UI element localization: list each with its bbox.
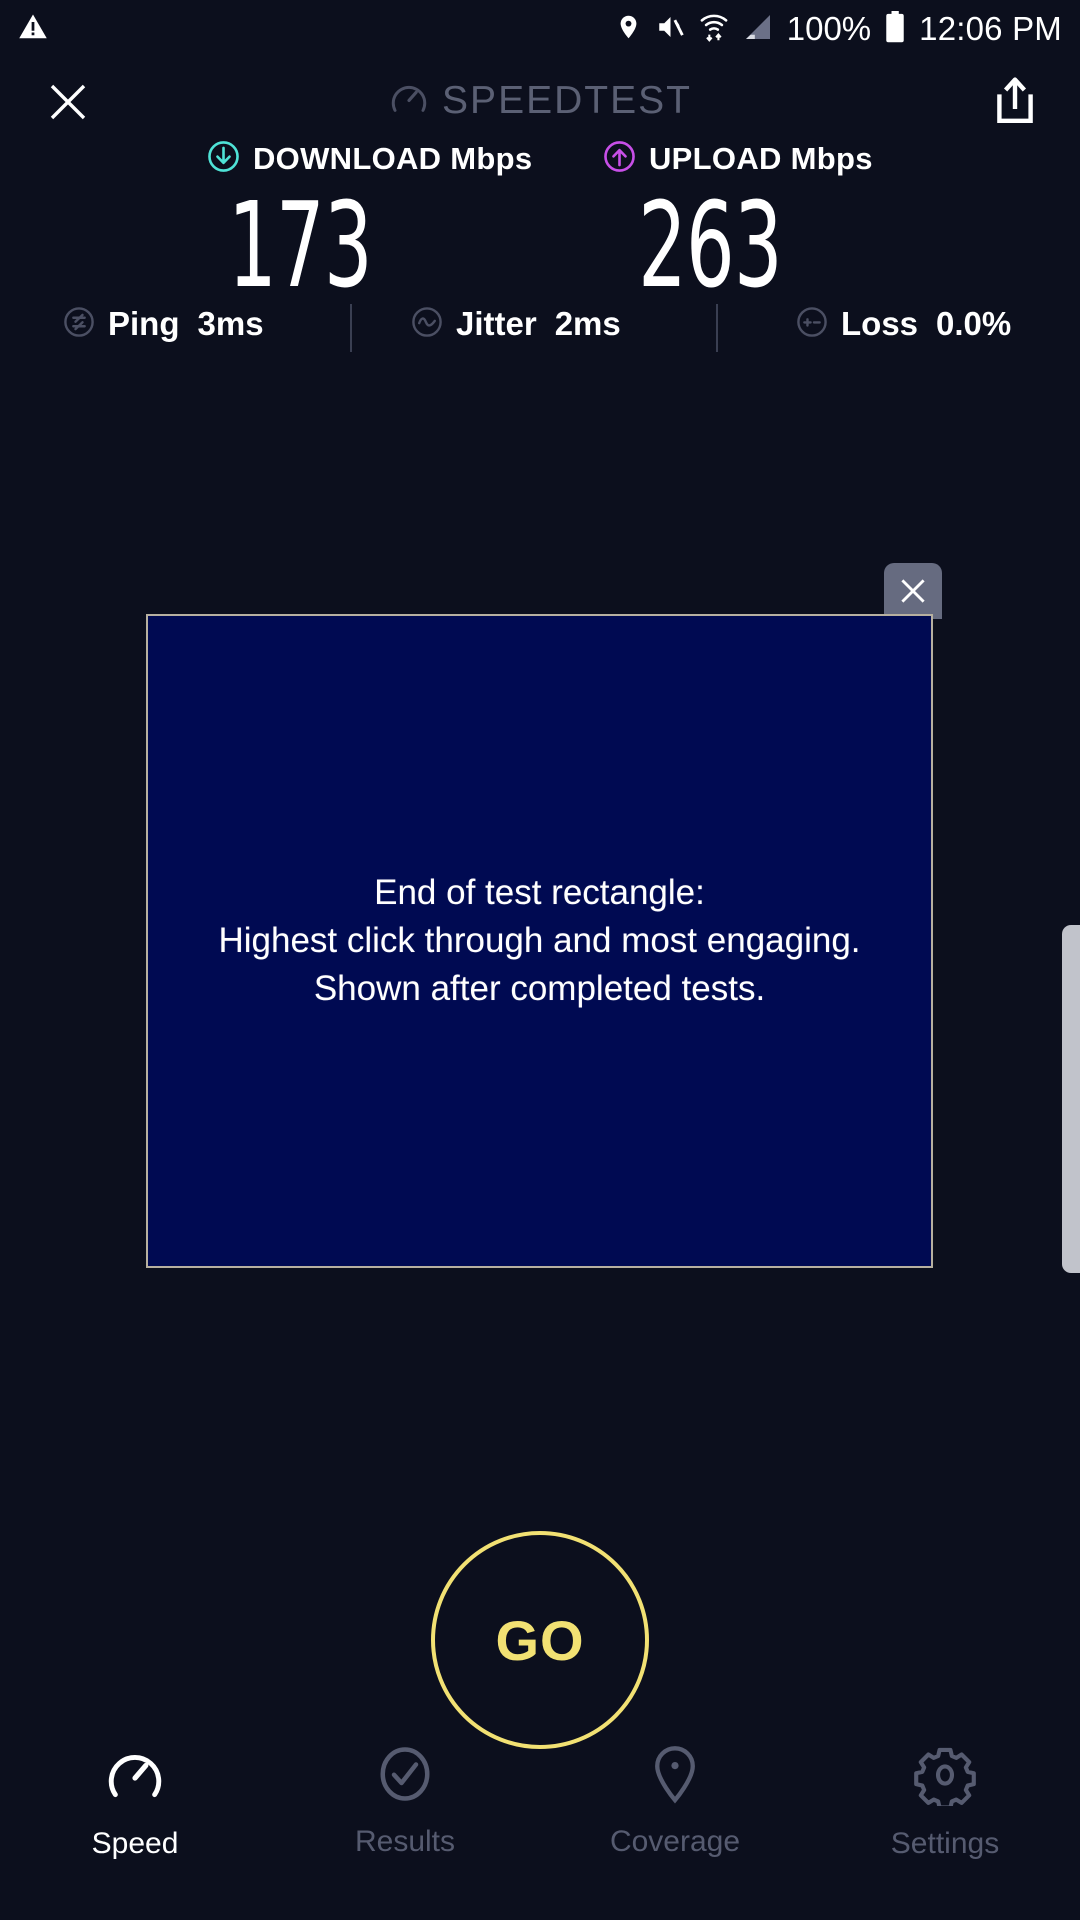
- upload-metric-header: UPLOAD Mbps: [603, 140, 873, 178]
- status-bar-left-icons: [18, 12, 48, 47]
- close-icon: [896, 574, 930, 608]
- nav-label-settings: Settings: [891, 1827, 999, 1861]
- download-value: 173: [185, 186, 415, 304]
- ping-metric: Ping 3ms: [62, 300, 264, 348]
- loss-label: Loss: [841, 305, 918, 343]
- share-icon: [993, 76, 1037, 126]
- clock-label: 12:06 PM: [919, 10, 1062, 48]
- jitter-value: 2ms: [555, 305, 621, 343]
- ad-line-3: Shown after completed tests.: [218, 965, 860, 1013]
- loss-icon: [795, 305, 829, 344]
- jitter-label: Jitter: [456, 305, 537, 343]
- upload-label: UPLOAD Mbps: [649, 141, 873, 177]
- check-circle-icon: [375, 1744, 435, 1809]
- upload-arrow-icon: [603, 140, 636, 178]
- speedtest-gauge-icon: [388, 78, 430, 125]
- ad-text: End of test rectangle: Highest click thr…: [218, 869, 860, 1014]
- nav-label-speed: Speed: [92, 1827, 179, 1861]
- ad-line-2: Highest click through and most engaging.: [218, 917, 860, 965]
- status-bar-right-icons: 100% 12:06 PM: [615, 10, 1062, 48]
- speedtest-app-screen: 100% 12:06 PM SPEEDTEST: [0, 0, 1080, 1920]
- android-status-bar: 100% 12:06 PM: [0, 0, 1080, 58]
- ping-icon: [62, 305, 96, 344]
- nav-item-settings[interactable]: Settings: [810, 1744, 1080, 1861]
- ad-line-1: End of test rectangle:: [218, 869, 860, 917]
- test-results-panel: DOWNLOAD Mbps UPLOAD Mbps 173 263: [0, 140, 1080, 307]
- speed-gauge-icon: [104, 1744, 166, 1811]
- nav-item-results[interactable]: Results: [270, 1744, 540, 1859]
- warning-triangle-icon: [18, 12, 48, 47]
- jitter-metric: Jitter 2ms: [410, 300, 621, 348]
- upload-value: 263: [595, 186, 825, 304]
- location-pin-icon: [615, 12, 642, 47]
- wifi-icon: [699, 11, 729, 48]
- cell-signal-icon: [742, 12, 774, 47]
- ping-jitter-loss-row: Ping 3ms Jitter 2ms Loss 0.0%: [0, 300, 1080, 360]
- loss-metric: Loss 0.0%: [795, 300, 1011, 348]
- nav-item-speed[interactable]: Speed: [0, 1744, 270, 1861]
- header-title-group: SPEEDTEST: [0, 70, 1080, 132]
- advertisement-banner[interactable]: End of test rectangle: Highest click thr…: [146, 614, 933, 1268]
- nav-item-coverage[interactable]: Coverage: [540, 1744, 810, 1859]
- bottom-navigation-bar: Speed Results Coverage: [0, 1730, 1080, 1920]
- metric-divider-2: [716, 304, 718, 352]
- battery-icon: [884, 11, 906, 48]
- metric-labels-row: DOWNLOAD Mbps UPLOAD Mbps: [0, 140, 1080, 192]
- share-button[interactable]: [984, 68, 1046, 134]
- app-header: SPEEDTEST: [0, 60, 1080, 140]
- download-arrow-icon: [207, 140, 240, 178]
- ping-label: Ping: [108, 305, 180, 343]
- battery-percent-label: 100%: [787, 10, 871, 48]
- metric-values-row: 173 263: [0, 192, 1080, 307]
- gear-icon: [914, 1744, 976, 1811]
- jitter-icon: [410, 305, 444, 344]
- nav-label-results: Results: [355, 1825, 455, 1859]
- go-button-label: GO: [495, 1608, 584, 1673]
- nav-label-coverage: Coverage: [610, 1825, 740, 1859]
- download-metric-header: DOWNLOAD Mbps: [207, 140, 532, 178]
- download-label: DOWNLOAD Mbps: [253, 141, 532, 177]
- loss-value: 0.0%: [936, 305, 1011, 343]
- ad-close-button[interactable]: [884, 563, 942, 619]
- metric-divider-1: [350, 304, 352, 352]
- mute-icon: [655, 12, 686, 47]
- location-pin-icon: [646, 1744, 704, 1809]
- page-scrollbar[interactable]: [1062, 925, 1080, 1273]
- go-button[interactable]: GO: [431, 1531, 649, 1749]
- page-title: SPEEDTEST: [442, 79, 692, 123]
- ping-value: 3ms: [198, 305, 264, 343]
